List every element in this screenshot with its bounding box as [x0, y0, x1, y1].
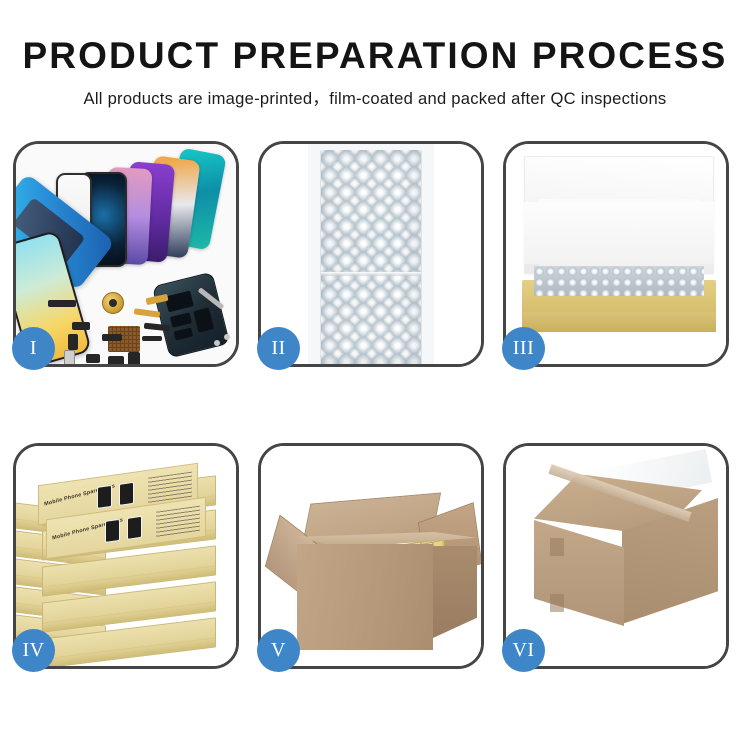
spare-part-block-1: [108, 356, 124, 364]
carton-front-panel: [297, 544, 433, 650]
housing-module-2: [170, 312, 192, 328]
bubble-wrapped-contents: [534, 266, 704, 296]
spare-part-connector-1: [72, 322, 90, 330]
step-4-image: Mobile Phone Spare Parts Mobile Phone Sp…: [16, 446, 236, 666]
carton-handle-slot-bottom: [550, 594, 564, 612]
process-step-grid: I II III: [13, 141, 737, 669]
page-title: PRODUCT PREPARATION PROCESS: [0, 36, 750, 76]
step-badge-2: II: [257, 327, 300, 370]
box-edge: [43, 637, 215, 666]
step-5-image: [261, 446, 481, 666]
housing-module-4: [174, 327, 194, 340]
box-label-spec-lines: [156, 506, 200, 538]
spare-part-cable-2: [142, 336, 162, 341]
box-label-phone-icon: [127, 516, 142, 540]
step-badge-1: I: [12, 327, 55, 370]
page-subtitle: All products are image-printed，film-coat…: [0, 85, 750, 109]
housing-module-3: [193, 307, 214, 332]
process-step-panel-1: I: [13, 141, 239, 367]
process-step-panel-6: VI: [503, 443, 729, 669]
step-badge-6: VI: [502, 629, 545, 672]
process-step-panel-5: V: [258, 443, 484, 669]
step-2-image: [261, 144, 481, 364]
housing-module-1: [165, 291, 194, 313]
box-label-phone-icon: [97, 485, 112, 509]
step-badge-3: III: [502, 327, 545, 370]
box-label-phone-icon: [105, 519, 120, 543]
spare-part-strip-1: [48, 300, 76, 307]
spare-part-button: [86, 354, 100, 363]
step-badge-4: IV: [12, 629, 55, 672]
step-3-image: [506, 144, 726, 364]
bubble-wrap-pouch: [320, 150, 422, 364]
spare-part-sim-tray: [64, 350, 75, 364]
spare-part-speaker: [102, 334, 122, 341]
process-step-panel-3: III: [503, 141, 729, 367]
spare-part-block-2: [128, 352, 140, 364]
step-1-image: [16, 144, 236, 364]
kraft-box-tray: [522, 280, 716, 332]
spare-part-screw-2: [214, 340, 220, 346]
process-step-panel-2: II: [258, 141, 484, 367]
step-badge-5: V: [257, 629, 300, 672]
spare-part-connector-2: [68, 334, 78, 350]
bubble-wrap-seam: [321, 272, 421, 276]
spare-part-screw-1: [224, 334, 230, 340]
box-label-phone-icon: [119, 482, 134, 506]
carton-handle-slot-top: [550, 538, 564, 556]
step-6-image: [506, 446, 726, 666]
kraft-box-front-panel: [522, 312, 716, 332]
foam-insert: [524, 202, 714, 264]
header: PRODUCT PREPARATION PROCESS All products…: [0, 0, 750, 109]
product-preparation-infographic: PRODUCT PREPARATION PROCESS All products…: [0, 0, 750, 750]
process-step-panel-4: Mobile Phone Spare Parts Mobile Phone Sp…: [13, 443, 239, 669]
gold-coil-part: [102, 292, 124, 314]
